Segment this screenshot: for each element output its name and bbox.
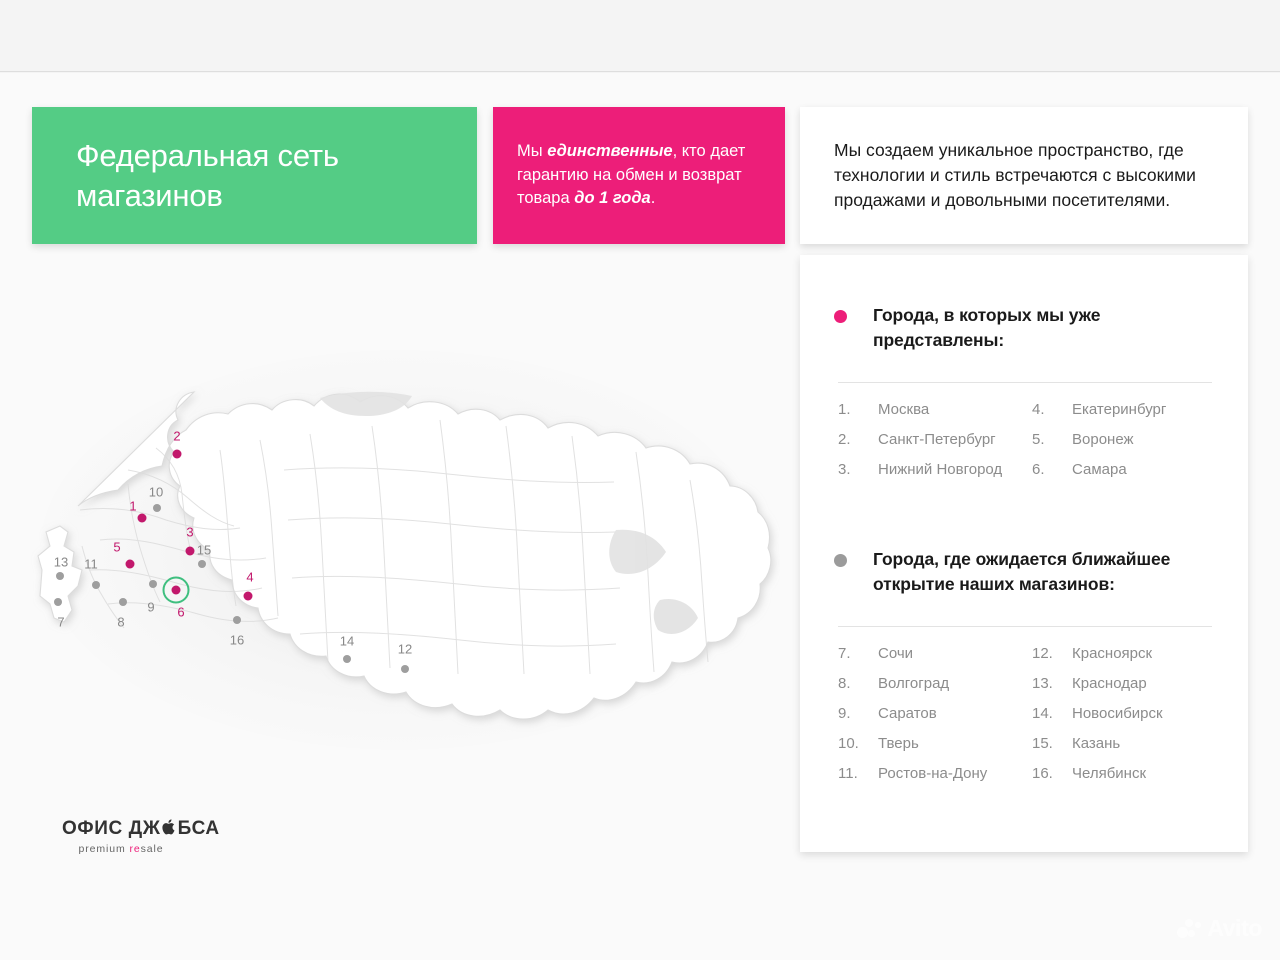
map-marker-dot[interactable] [233,616,241,624]
city-number: 1. [838,401,878,418]
city-list-item: 2.Санкт-Петербург [838,431,1022,461]
logo-tagline-sale: sale [141,843,164,855]
legend-present-divider [838,382,1212,383]
map-marker-dot[interactable] [153,504,161,512]
city-list-present: 1.Москва4.Екатеринбург2.Санкт-Петербург5… [834,401,1216,491]
logo-wordmark: ОФИС ДЖ БСА [62,818,262,840]
city-name: Волгоград [878,675,949,692]
green-title-panel: Федеральная сеть магазинов [32,107,477,244]
city-name: Самара [1072,461,1127,478]
map-marker-dot[interactable] [198,560,206,568]
white-statement-text: Мы создаем уникальное пространство, где … [800,138,1248,213]
city-list-item: 11.Ростов-на-Дону [838,765,1022,795]
brand-logo: ОФИС ДЖ БСА premium resale [62,818,262,855]
city-number: 5. [1032,431,1072,448]
logo-tagline: premium resale [62,843,180,855]
legend-upcoming-header: Города, где ожидается ближайшее открытие… [834,547,1216,598]
avito-wordmark: Avito [1207,915,1262,942]
legend-upcoming-divider [838,626,1212,627]
city-list-item: 14.Новосибирск [1032,705,1216,735]
city-name: Саратов [878,705,937,722]
city-list-item: 4.Екатеринбург [1032,401,1216,431]
map-marker-dot[interactable] [126,560,135,569]
map-marker-dot[interactable] [54,598,62,606]
pink-text-part-3: . [651,189,656,207]
city-list-item: 9.Саратов [838,705,1022,735]
map-marker-dot[interactable] [173,450,182,459]
map-marker-label: 2 [173,429,180,444]
map-marker-label: 1 [129,499,136,514]
map-marker-label: 12 [398,642,412,657]
pink-dot-icon [834,310,847,323]
city-list-item: 16.Челябинск [1032,765,1216,795]
map-marker-dot[interactable] [92,581,100,589]
city-number: 12. [1032,645,1072,662]
city-name: Екатеринбург [1072,401,1166,418]
city-name: Санкт-Петербург [878,431,996,448]
map-marker-dot[interactable] [343,655,351,663]
city-list-item: 1.Москва [838,401,1022,431]
map-marker-label: 11 [84,557,98,572]
city-list-item: 3.Нижний Новгород [838,461,1022,491]
city-name: Казань [1072,735,1120,752]
city-number: 16. [1032,765,1072,782]
city-list-item: 12.Красноярск [1032,645,1216,675]
russia-map-svg [20,270,780,790]
avito-logo-icon [1177,918,1203,940]
gray-dot-icon [834,554,847,567]
logo-tagline-re: re [129,843,140,855]
pink-emphasis-1: единственные [547,142,672,160]
city-name: Красноярск [1072,645,1152,662]
apple-glyph [162,818,177,836]
map-marker-label: 6 [177,605,184,620]
russia-map: 12345678910111213141516 [20,270,780,790]
map-marker-label: 9 [147,600,154,615]
city-name: Сочи [878,645,913,662]
map-marker-dot[interactable] [149,580,157,588]
city-number: 14. [1032,705,1072,722]
city-name: Челябинск [1072,765,1146,782]
legend-block-upcoming: Города, где ожидается ближайшее открытие… [834,547,1216,795]
city-number: 13. [1032,675,1072,692]
city-number: 3. [838,461,878,478]
legend-present-title: Города, в которых мы уже представлены: [873,303,1216,354]
city-list-item: 15.Казань [1032,735,1216,765]
city-name: Тверь [878,735,919,752]
pink-guarantee-text: Мы единственные, кто дает гарантию на об… [493,140,785,211]
white-statement-panel: Мы создаем уникальное пространство, где … [800,107,1248,244]
map-marker-label: 3 [186,525,193,540]
map-marker-dot[interactable] [186,547,195,556]
logo-text-part-1: ОФИС ДЖ [62,818,161,840]
city-number: 6. [1032,461,1072,478]
map-marker-label: 8 [117,615,124,630]
logo-text-part-2: БСА [178,818,220,840]
map-marker-dot[interactable] [244,592,253,601]
map-marker-label: 13 [54,555,68,570]
map-marker-label: 15 [197,543,211,558]
legend-block-present: Города, в которых мы уже представлены: 1… [834,303,1216,491]
apple-icon [162,818,177,840]
city-list-upcoming: 7.Сочи12.Красноярск8.Волгоград13.Краснод… [834,645,1216,795]
city-name: Краснодар [1072,675,1147,692]
city-number: 8. [838,675,878,692]
city-number: 15. [1032,735,1072,752]
city-name: Ростов-на-Дону [878,765,987,782]
avito-watermark: Avito [1177,915,1262,942]
legend-present-header: Города, в которых мы уже представлены: [834,303,1216,354]
map-marker-dot[interactable] [172,586,181,595]
legend-upcoming-title: Города, где ожидается ближайшее открытие… [873,547,1216,598]
top-bar [0,0,1280,72]
pink-emphasis-2: до 1 года [574,189,650,207]
green-title-text: Федеральная сеть магазинов [32,136,477,215]
map-marker-dot[interactable] [138,514,147,523]
city-name: Нижний Новгород [878,461,1002,478]
map-marker-label: 14 [340,634,354,649]
map-marker-dot[interactable] [119,598,127,606]
city-name: Воронеж [1072,431,1134,448]
city-number: 2. [838,431,878,448]
city-number: 4. [1032,401,1072,418]
city-name: Москва [878,401,929,418]
city-list-item: 7.Сочи [838,645,1022,675]
map-marker-dot[interactable] [401,665,409,673]
logo-tagline-premium: premium [79,843,130,855]
map-marker-dot[interactable] [56,572,64,580]
city-name: Новосибирск [1072,705,1163,722]
city-list-item: 8.Волгоград [838,675,1022,705]
legend-card: Города, в которых мы уже представлены: 1… [800,255,1248,852]
map-marker-label: 5 [113,540,120,555]
city-number: 9. [838,705,878,722]
map-marker-label: 7 [57,615,64,630]
city-list-item: 5.Воронеж [1032,431,1216,461]
pink-guarantee-panel: Мы единственные, кто дает гарантию на об… [493,107,785,244]
city-number: 10. [838,735,878,752]
map-marker-label: 10 [149,485,163,500]
map-marker-label: 4 [246,570,253,585]
city-list-item: 10.Тверь [838,735,1022,765]
city-list-item: 6.Самара [1032,461,1216,491]
city-list-item: 13.Краснодар [1032,675,1216,705]
city-number: 7. [838,645,878,662]
slide-page: Федеральная сеть магазинов Мы единственн… [0,0,1280,960]
city-number: 11. [838,765,878,782]
pink-text-part-1: Мы [517,142,547,160]
map-marker-label: 16 [230,633,244,648]
